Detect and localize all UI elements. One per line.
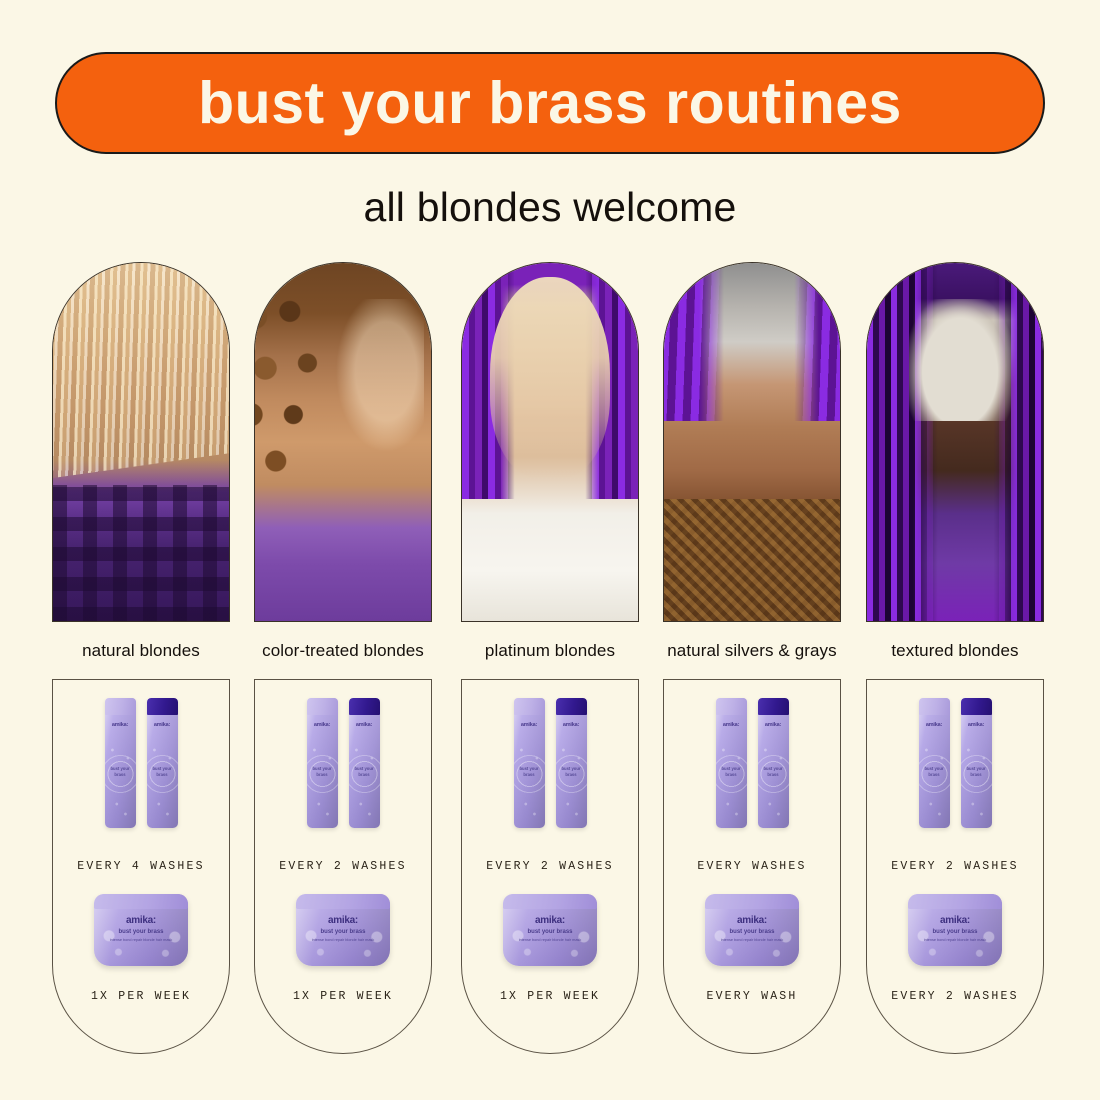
header-banner: bust your brass routines — [55, 52, 1045, 154]
mask-jar: amika: bust your brass intense bond repa… — [705, 894, 799, 966]
bottle-brand: amika: — [758, 722, 789, 728]
bottle-pattern-icon — [961, 728, 992, 828]
bottle-product-name: bust your brass — [514, 766, 545, 777]
jar-brand: amika: — [705, 915, 799, 926]
bottle-product-name: bust your brass — [105, 766, 136, 777]
category-label: color-treated blondes — [233, 641, 453, 661]
jar-product-name: bust your brass — [296, 929, 390, 935]
bottle-pair: amika: bust your brass amika: bust your … — [867, 698, 1043, 838]
bottle-product-name: bust your brass — [556, 766, 587, 777]
bottle-product-name: bust your brass — [716, 766, 747, 777]
mask-jar-wrap: amika: bust your brass intense bond repa… — [664, 885, 840, 975]
mask-jar-wrap: amika: bust your brass intense bond repa… — [255, 885, 431, 975]
routine-card: amika: bust your brass amika: bust your … — [461, 679, 639, 1054]
frequency-bottom: 1X PER WEEK — [462, 990, 638, 1003]
conditioner-bottle: amika: bust your brass — [961, 698, 992, 828]
portrait-image — [53, 263, 229, 621]
bottle-pattern-icon — [105, 728, 136, 828]
shampoo-bottle: amika: bust your brass — [105, 698, 136, 828]
mask-jar: amika: bust your brass intense bond repa… — [503, 894, 597, 966]
portrait-textured-blondes — [866, 262, 1044, 622]
bottle-brand: amika: — [349, 722, 380, 728]
bottle-brand: amika: — [961, 722, 992, 728]
bottle-brand: amika: — [919, 722, 950, 728]
portrait-image — [462, 263, 638, 621]
frequency-top: EVERY 2 WASHES — [255, 860, 431, 873]
routine-card: amika: bust your brass amika: bust your … — [254, 679, 432, 1054]
bottle-pair: amika: bust your brass amika: bust your … — [462, 698, 638, 838]
bottle-pattern-icon — [716, 728, 747, 828]
jar-brand: amika: — [296, 915, 390, 926]
subtitle: all blondes welcome — [0, 184, 1100, 231]
banner-title: bust your brass routines — [198, 74, 902, 133]
category-label: natural blondes — [52, 641, 230, 661]
bottle-pair: amika: bust your brass amika: bust your … — [53, 698, 229, 838]
bottle-cap-icon — [758, 698, 789, 715]
frequency-bottom: 1X PER WEEK — [255, 990, 431, 1003]
bottle-brand: amika: — [556, 722, 587, 728]
bottle-pattern-icon — [349, 728, 380, 828]
category-label: textured blondes — [866, 641, 1044, 661]
portrait-platinum-blondes — [461, 262, 639, 622]
jar-lid-icon — [296, 894, 390, 909]
bottle-pattern-icon — [556, 728, 587, 828]
bottle-cap-icon — [919, 698, 950, 715]
bottle-brand: amika: — [147, 722, 178, 728]
conditioner-bottle: amika: bust your brass — [147, 698, 178, 828]
bottle-brand: amika: — [716, 722, 747, 728]
jar-brand: amika: — [94, 915, 188, 926]
bottle-cap-icon — [556, 698, 587, 715]
jar-subtitle: intense bond repair blonde hair mask — [296, 938, 390, 944]
frequency-bottom: EVERY 2 WASHES — [867, 990, 1043, 1003]
portrait-natural-blondes — [52, 262, 230, 622]
mask-jar: amika: bust your brass intense bond repa… — [94, 894, 188, 966]
bottle-pattern-icon — [307, 728, 338, 828]
bottle-cap-icon — [147, 698, 178, 715]
bottle-cap-icon — [961, 698, 992, 715]
jar-product-name: bust your brass — [503, 929, 597, 935]
jar-lid-icon — [908, 894, 1002, 909]
jar-lid-icon — [94, 894, 188, 909]
routine-card: amika: bust your brass amika: bust your … — [866, 679, 1044, 1054]
bottle-product-name: bust your brass — [307, 766, 338, 777]
bottle-pattern-icon — [919, 728, 950, 828]
bottle-pair: amika: bust your brass amika: bust your … — [255, 698, 431, 838]
bottle-cap-icon — [105, 698, 136, 715]
conditioner-bottle: amika: bust your brass — [349, 698, 380, 828]
mask-jar-wrap: amika: bust your brass intense bond repa… — [867, 885, 1043, 975]
category-label: platinum blondes — [461, 641, 639, 661]
frequency-top: EVERY 2 WASHES — [462, 860, 638, 873]
bottle-brand: amika: — [105, 722, 136, 728]
bottle-cap-icon — [716, 698, 747, 715]
frequency-bottom: EVERY WASH — [664, 990, 840, 1003]
portrait-image — [664, 263, 840, 621]
jar-brand: amika: — [908, 915, 1002, 926]
jar-product-name: bust your brass — [908, 929, 1002, 935]
bottle-cap-icon — [307, 698, 338, 715]
frequency-bottom: 1X PER WEEK — [53, 990, 229, 1003]
bottle-product-name: bust your brass — [349, 766, 380, 777]
bottle-cap-icon — [514, 698, 545, 715]
routine-card: amika: bust your brass amika: bust your … — [663, 679, 841, 1054]
jar-subtitle: intense bond repair blonde hair mask — [94, 938, 188, 944]
bottle-pattern-icon — [514, 728, 545, 828]
jar-subtitle: intense bond repair blonde hair mask — [503, 938, 597, 944]
routine-card: amika: bust your brass amika: bust your … — [52, 679, 230, 1054]
portrait-image — [255, 263, 431, 621]
bottle-product-name: bust your brass — [961, 766, 992, 777]
frequency-top: EVERY WASHES — [664, 860, 840, 873]
mask-jar-wrap: amika: bust your brass intense bond repa… — [53, 885, 229, 975]
mask-jar-wrap: amika: bust your brass intense bond repa… — [462, 885, 638, 975]
bottle-product-name: bust your brass — [758, 766, 789, 777]
conditioner-bottle: amika: bust your brass — [556, 698, 587, 828]
jar-lid-icon — [503, 894, 597, 909]
jar-subtitle: intense bond repair blonde hair mask — [908, 938, 1002, 944]
portrait-natural-silvers-grays — [663, 262, 841, 622]
bottle-cap-icon — [349, 698, 380, 715]
portrait-color-treated-blondes — [254, 262, 432, 622]
bottle-pattern-icon — [147, 728, 178, 828]
category-label: natural silvers & grays — [642, 641, 862, 661]
bottle-pair: amika: bust your brass amika: bust your … — [664, 698, 840, 838]
jar-subtitle: intense bond repair blonde hair mask — [705, 938, 799, 944]
conditioner-bottle: amika: bust your brass — [758, 698, 789, 828]
shampoo-bottle: amika: bust your brass — [307, 698, 338, 828]
shampoo-bottle: amika: bust your brass — [919, 698, 950, 828]
bottle-product-name: bust your brass — [147, 766, 178, 777]
frequency-top: EVERY 4 WASHES — [53, 860, 229, 873]
jar-product-name: bust your brass — [94, 929, 188, 935]
bottle-product-name: bust your brass — [919, 766, 950, 777]
bottle-pattern-icon — [758, 728, 789, 828]
mask-jar: amika: bust your brass intense bond repa… — [296, 894, 390, 966]
shampoo-bottle: amika: bust your brass — [716, 698, 747, 828]
mask-jar: amika: bust your brass intense bond repa… — [908, 894, 1002, 966]
shampoo-bottle: amika: bust your brass — [514, 698, 545, 828]
frequency-top: EVERY 2 WASHES — [867, 860, 1043, 873]
bottle-brand: amika: — [307, 722, 338, 728]
portrait-image — [867, 263, 1043, 621]
jar-brand: amika: — [503, 915, 597, 926]
jar-lid-icon — [705, 894, 799, 909]
bottle-brand: amika: — [514, 722, 545, 728]
jar-product-name: bust your brass — [705, 929, 799, 935]
